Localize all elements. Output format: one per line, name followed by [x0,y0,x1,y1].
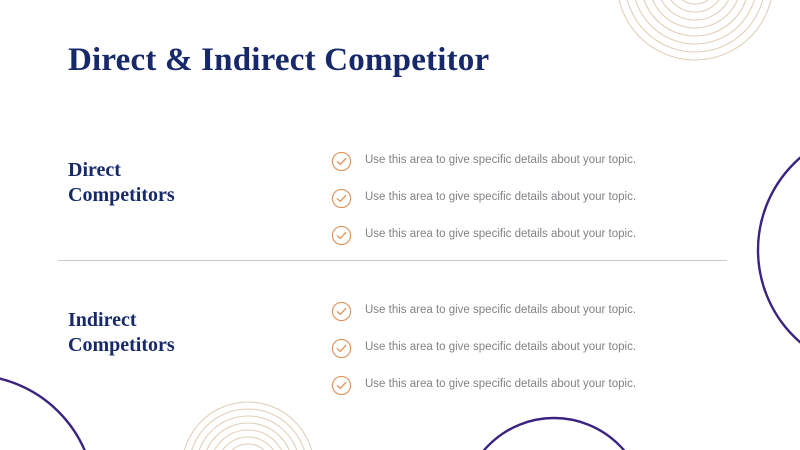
section-direct-competitors: Direct Competitors Use this area to give… [0,150,800,250]
concentric-rings-top-right-icon [617,0,773,60]
list-item[interactable]: Use this area to give specific details a… [331,300,731,322]
bullet-list-indirect: Use this area to give specific details a… [331,300,731,396]
section-label-indirect-line1: Indirect [68,308,298,333]
page-title: Direct & Indirect Competitor [68,42,489,79]
check-circle-icon [331,188,352,209]
list-item-text: Use this area to give specific details a… [365,379,636,391]
section-indirect-competitors: Indirect Competitors Use this area to gi… [0,300,800,400]
bullet-list-direct: Use this area to give specific details a… [331,150,731,246]
section-divider [58,260,727,261]
section-label-direct: Direct Competitors [68,158,298,208]
check-circle-icon [331,375,352,396]
list-item[interactable]: Use this area to give specific details a… [331,187,731,209]
list-item[interactable]: Use this area to give specific details a… [331,224,731,246]
list-item-text: Use this area to give specific details a… [365,342,636,354]
list-item-text: Use this area to give specific details a… [365,229,636,241]
check-circle-icon [331,301,352,322]
slide-canvas: Direct & Indirect Competitor Direct Comp… [0,0,800,450]
list-item-text: Use this area to give specific details a… [365,192,636,204]
list-item-text: Use this area to give specific details a… [365,305,636,317]
check-circle-icon [331,225,352,246]
list-item-text: Use this area to give specific details a… [365,155,636,167]
list-item[interactable]: Use this area to give specific details a… [331,150,731,172]
circle-outline-bottom-center-icon [462,418,646,450]
check-circle-icon [331,338,352,359]
check-circle-icon [331,151,352,172]
section-label-indirect-line2: Competitors [68,333,298,358]
list-item[interactable]: Use this area to give specific details a… [331,374,731,396]
list-item[interactable]: Use this area to give specific details a… [331,337,731,359]
section-label-indirect: Indirect Competitors [68,308,298,358]
concentric-rings-bottom-left-icon [182,402,314,450]
section-label-direct-line1: Direct [68,158,298,183]
section-label-direct-line2: Competitors [68,183,298,208]
